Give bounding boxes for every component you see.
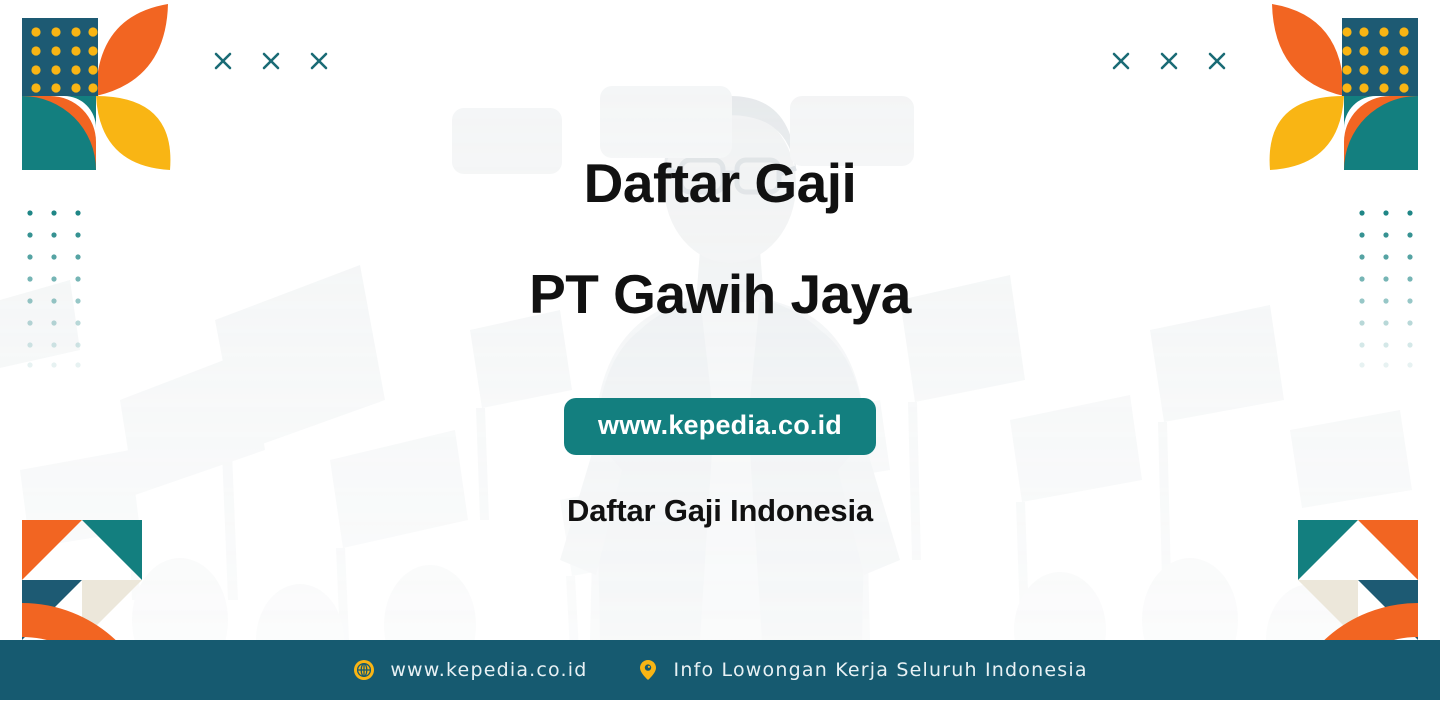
- hero-content: Daftar Gaji PT Gawih Jaya www.kepedia.co…: [0, 0, 1440, 529]
- banner-canvas: Daftar Gaji PT Gawih Jaya www.kepedia.co…: [0, 0, 1440, 720]
- footer-bar: www.kepedia.co.id Info Lowongan Kerja Se…: [0, 640, 1440, 700]
- footer-item-website[interactable]: www.kepedia.co.id: [352, 658, 587, 682]
- page-title-line-1: Daftar Gaji: [584, 155, 857, 213]
- location-pin-icon: [636, 658, 660, 682]
- globe-icon: [352, 658, 376, 682]
- footer-website-label: www.kepedia.co.id: [390, 659, 587, 681]
- page-title-line-2: PT Gawih Jaya: [529, 266, 911, 324]
- footer-info-label: Info Lowongan Kerja Seluruh Indonesia: [674, 659, 1088, 681]
- page-subtitle: Daftar Gaji Indonesia: [567, 493, 873, 529]
- url-badge[interactable]: www.kepedia.co.id: [564, 398, 876, 455]
- footer-item-info[interactable]: Info Lowongan Kerja Seluruh Indonesia: [636, 658, 1088, 682]
